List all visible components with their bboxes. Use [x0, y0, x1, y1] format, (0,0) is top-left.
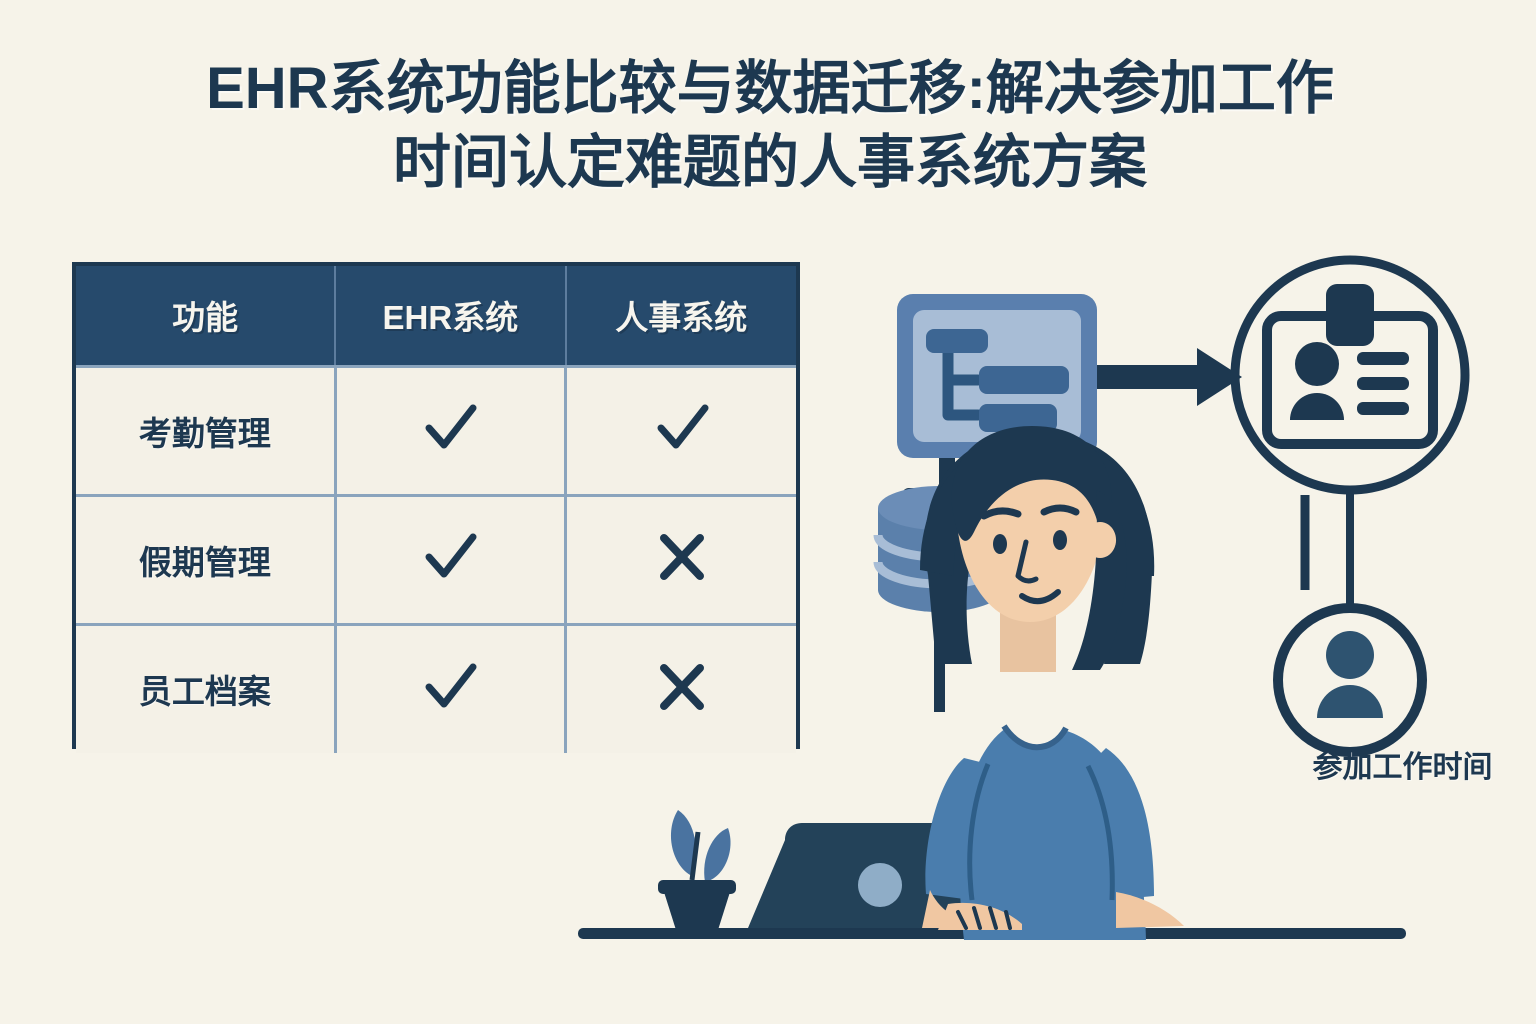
user-avatar-circle-icon [1278, 608, 1422, 752]
cell-ehr-1 [335, 495, 565, 624]
table-header-feature: 功能 [76, 266, 335, 366]
table-header-ehr: EHR系统 [335, 266, 565, 366]
workflow-illustration [560, 240, 1510, 980]
potted-plant [658, 810, 736, 930]
id-badge-circle-icon [1235, 260, 1465, 608]
arrow-right-icon [1097, 348, 1242, 406]
check-icon [417, 654, 483, 720]
check-icon [417, 395, 483, 461]
cell-feature-0: 考勤管理 [76, 366, 335, 495]
check-icon [417, 524, 483, 590]
cell-ehr-2 [335, 624, 565, 753]
person-at-laptop [920, 426, 1184, 940]
cell-ehr-0 [335, 366, 565, 495]
page-title-line-2: 时间认定难题的人事系统方案 [68, 126, 1472, 200]
infographic-canvas: EHR系统功能比较与数据迁移:解决参加工作 时间认定难题的人事系统方案 功能 E… [0, 0, 1536, 1024]
cell-feature-1: 假期管理 [76, 495, 335, 624]
page-title-line-1: EHR系统功能比较与数据迁移:解决参加工作 [68, 52, 1472, 126]
work-time-label: 参加工作时间 [1305, 748, 1500, 788]
cell-feature-2: 员工档案 [76, 624, 335, 753]
page-title: EHR系统功能比较与数据迁移:解决参加工作 时间认定难题的人事系统方案 [68, 52, 1472, 200]
